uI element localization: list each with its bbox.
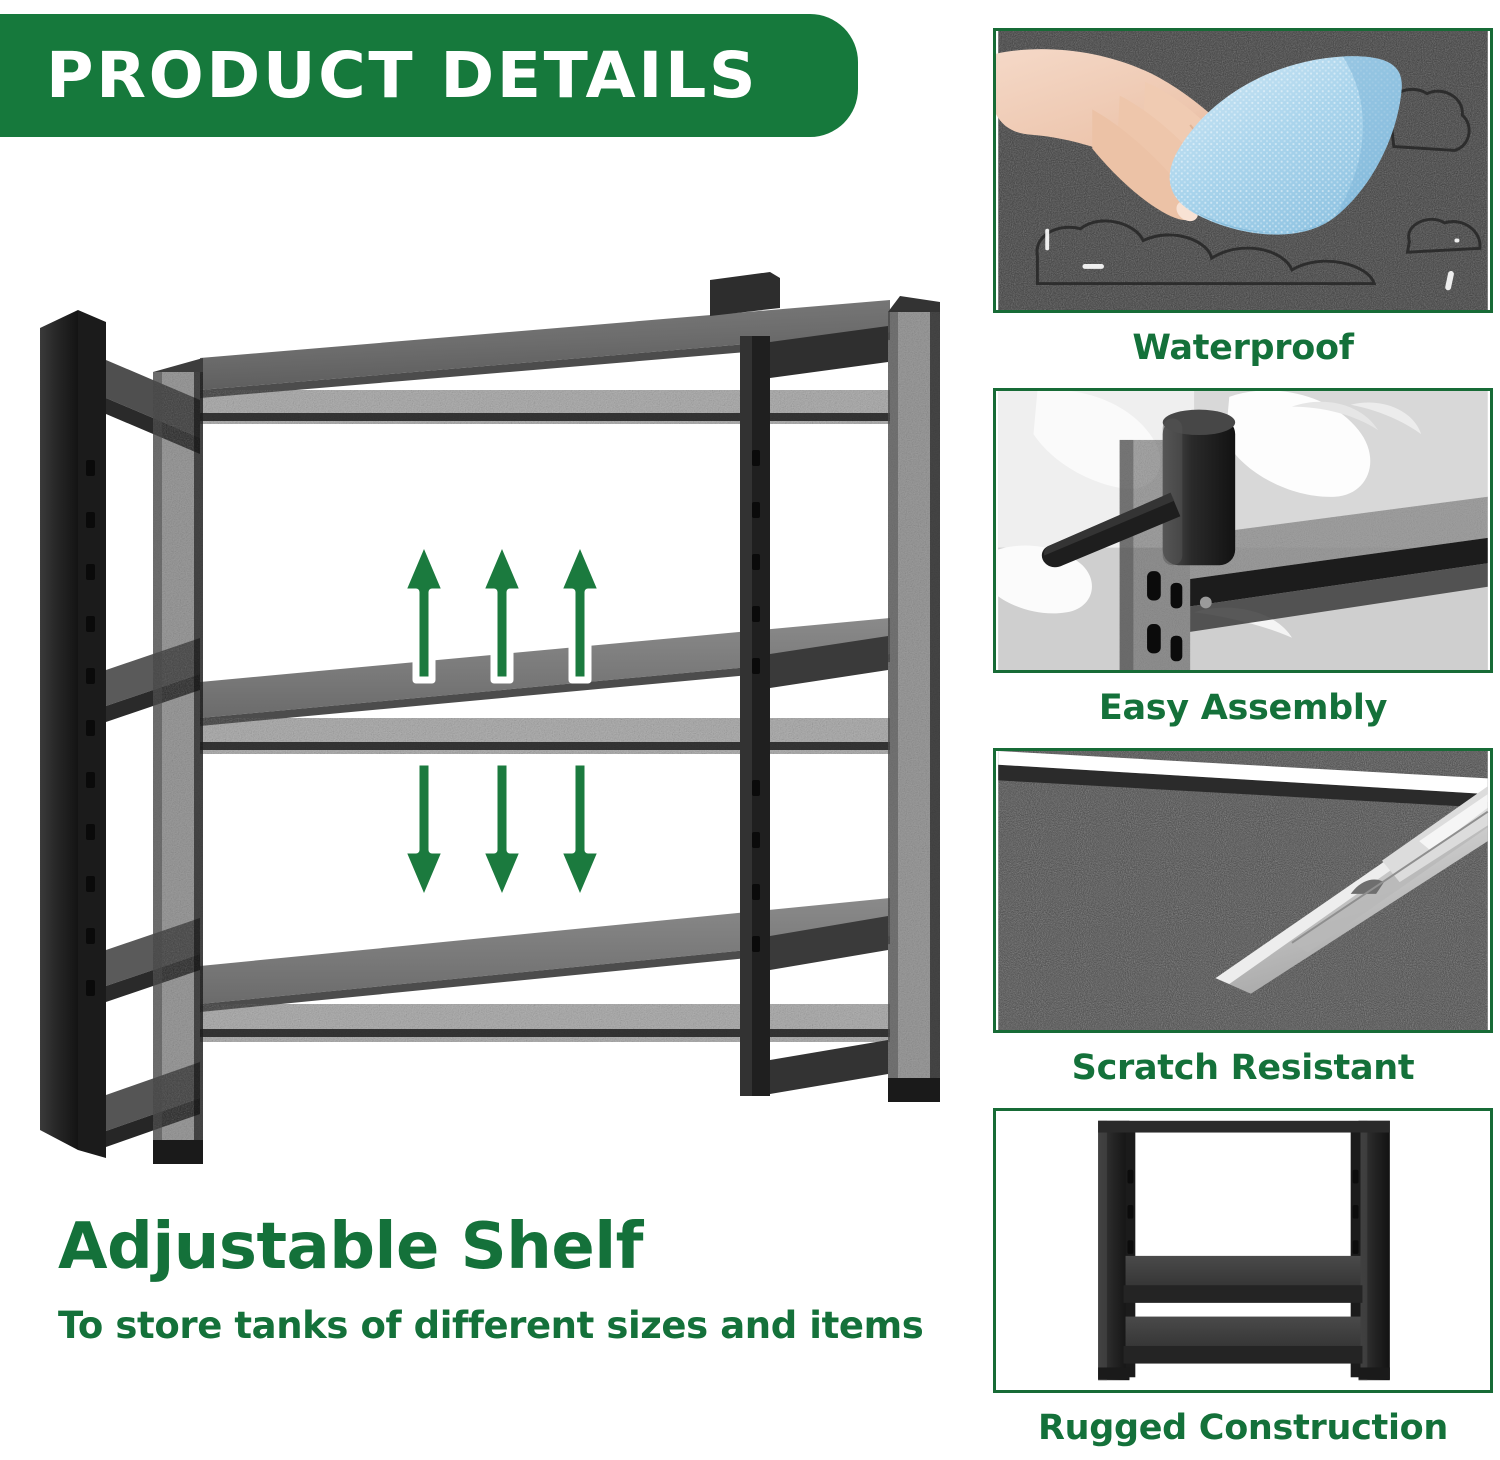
post-top-ear [710, 272, 780, 316]
feature-easy-assembly-image [993, 388, 1493, 673]
bottom-shelf [1126, 1317, 1361, 1350]
arrow-down-icon [480, 762, 524, 902]
shelf-middle [200, 618, 890, 754]
caption-title: Adjustable Shelf [58, 1212, 938, 1284]
middle-shelf [1126, 1256, 1361, 1289]
right-foot [1359, 1367, 1390, 1379]
feature-waterproof-label: Waterproof [993, 329, 1493, 368]
product-details-banner: PRODUCT DETAILS [0, 14, 858, 137]
front-left-post [153, 358, 203, 1162]
hand-wiping-cloth-illustration [996, 31, 1490, 310]
assembly-screw-icon [1200, 597, 1212, 609]
shelf-illustration [10, 250, 970, 1190]
left-foot [1098, 1367, 1129, 1379]
feature-rugged-construction-image [993, 1108, 1493, 1393]
feature-rugged-construction: Rugged Construction [993, 1108, 1493, 1448]
caption-block: Adjustable Shelf To store tanks of diffe… [58, 1212, 938, 1346]
feature-waterproof-image [993, 28, 1493, 313]
feature-scratch-resistant-label: Scratch Resistant [993, 1049, 1493, 1088]
hero-product-image [10, 250, 970, 1190]
utility-knife-illustration [996, 751, 1490, 1030]
feature-scratch-resistant-image [993, 748, 1493, 1033]
right-side-braces [770, 326, 888, 1094]
product-details-infographic: PRODUCT DETAILS [0, 0, 1500, 1460]
shelf-bottom [200, 898, 890, 1042]
mallet-assembly-illustration [996, 391, 1490, 670]
page-title: PRODUCT DETAILS [46, 44, 758, 107]
rear-right-post [740, 336, 770, 1096]
shelf-feet [153, 1078, 940, 1164]
feature-scratch-resistant: Scratch Resistant [993, 748, 1493, 1088]
arrows-up-group [402, 540, 602, 680]
arrow-down-icon [402, 762, 446, 902]
feature-easy-assembly: Easy Assembly [993, 388, 1493, 728]
shelf-front-view-illustration [996, 1111, 1490, 1390]
feature-waterproof: Waterproof [993, 28, 1493, 368]
feature-panel-column: Waterproof [993, 28, 1493, 1444]
arrow-up-icon [402, 540, 446, 680]
arrows-down-group [402, 762, 602, 902]
rear-left-post [40, 310, 106, 1158]
feature-rugged-construction-label: Rugged Construction [993, 1409, 1493, 1448]
front-right-post [888, 296, 940, 1100]
top-rail [1098, 1121, 1390, 1133]
caption-subtitle: To store tanks of different sizes and it… [58, 1306, 938, 1347]
feature-easy-assembly-label: Easy Assembly [993, 689, 1493, 728]
arrow-down-icon [558, 762, 602, 902]
